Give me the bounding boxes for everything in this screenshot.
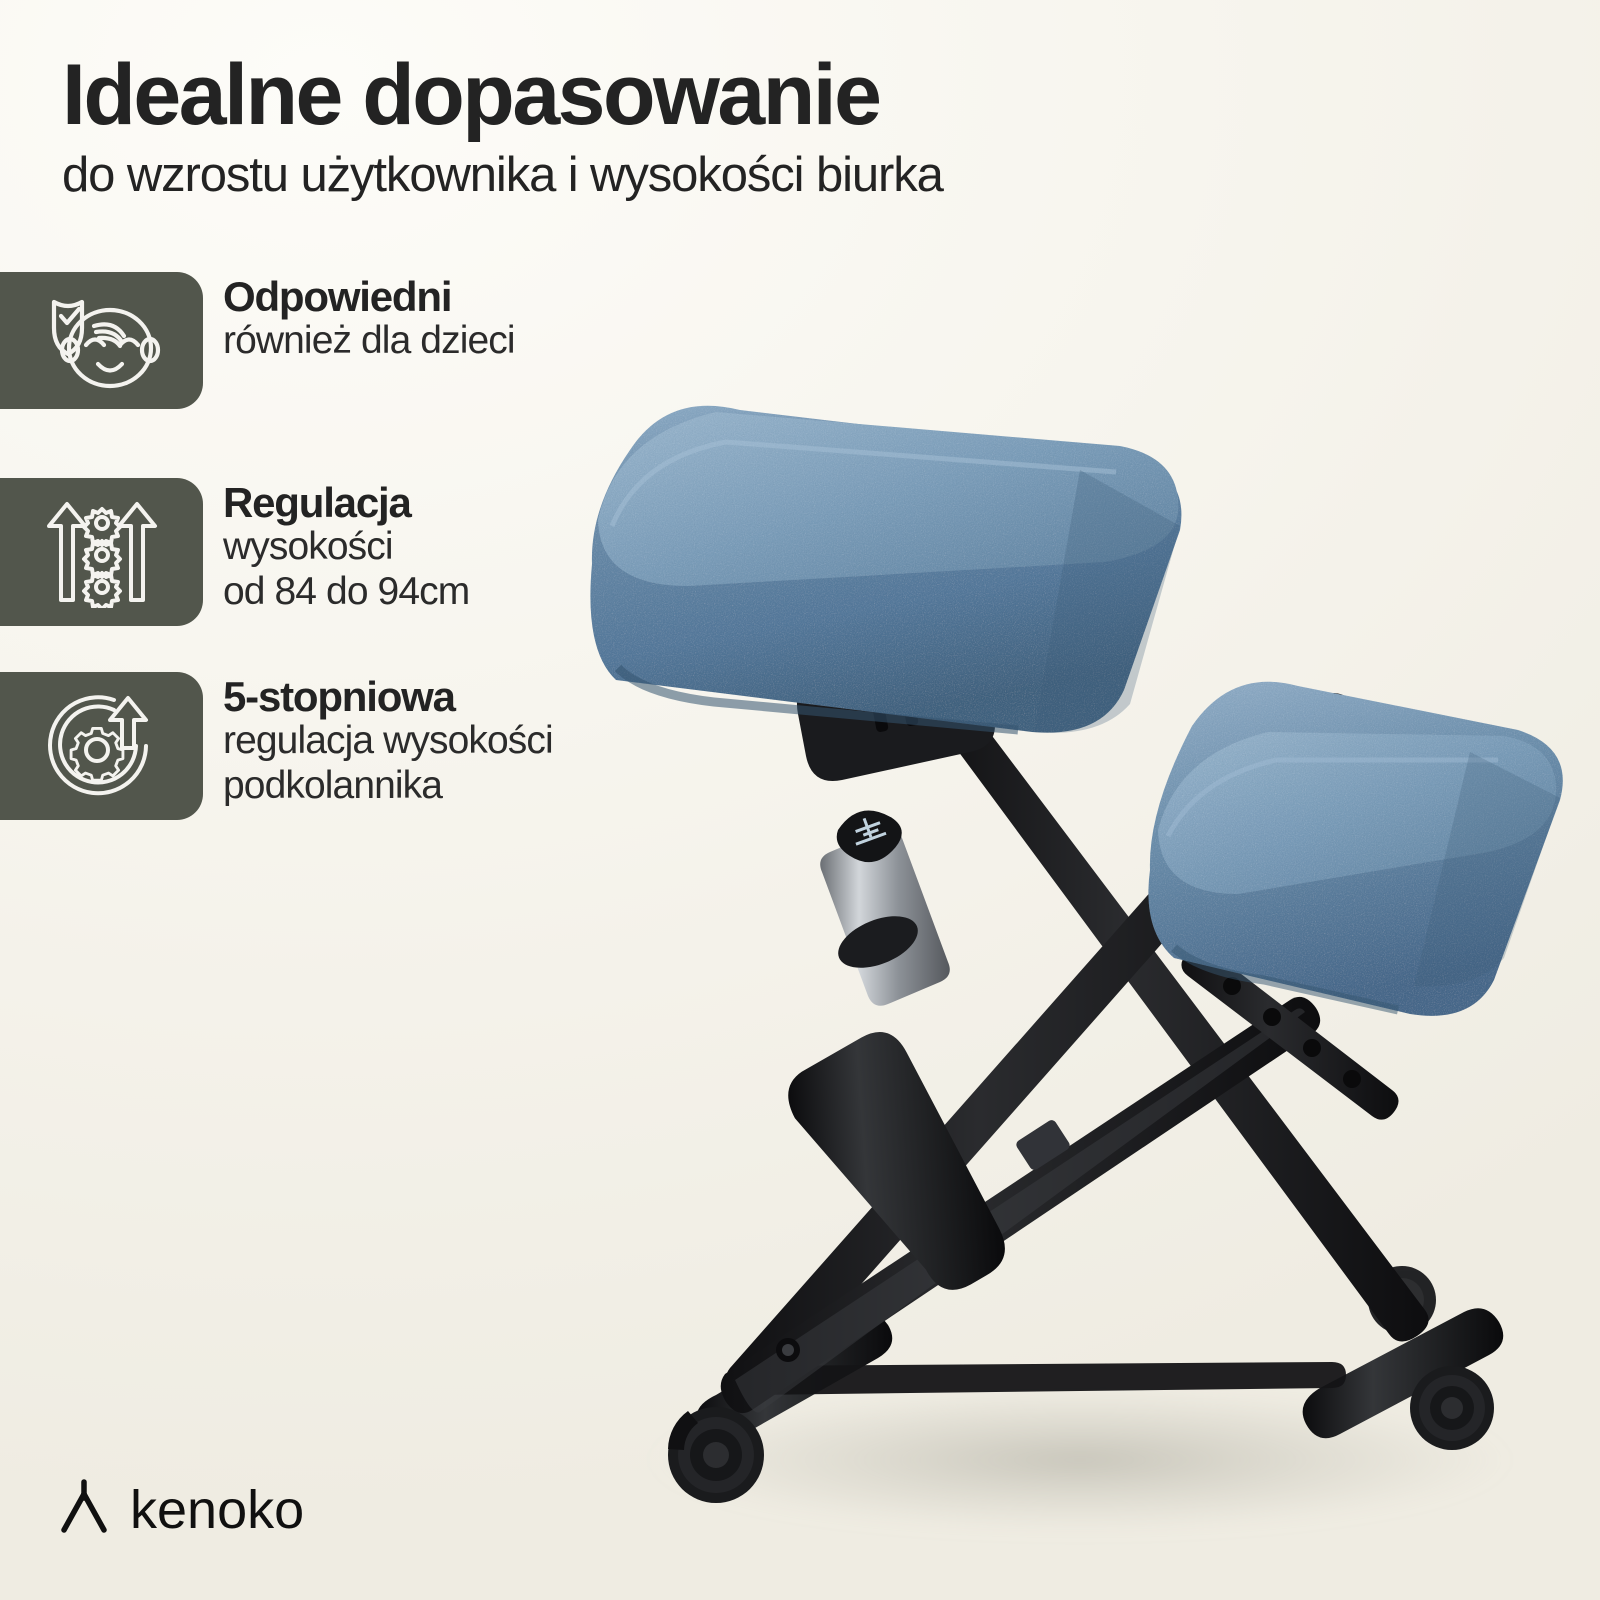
feature-text: Regulacja wysokości od 84 do 94cm [223,478,469,614]
page-title: Idealne dopasowanie [62,52,1362,140]
headline-block: Idealne dopasowanie do wzrostu użytkowni… [62,52,1362,201]
feature-subline: regulacja wysokości [223,719,553,763]
feature-heading: Odpowiedni [223,274,515,319]
feature-icon-badge [0,478,203,626]
product-image [520,350,1600,1550]
feature-subline: wysokości [223,525,469,569]
gas-lift-cylinder [784,800,1007,1300]
feature-icon-badge [0,272,203,409]
height-adjust-arrows-gears-icon [37,496,167,608]
feature-text: 5-stopniowa regulacja wysokości podkolan… [223,672,553,808]
brand-wordmark: kenoko [130,1483,304,1537]
feature-subline: również dla dzieci [223,319,515,363]
feature-item-height-adjust: Regulacja wysokości od 84 do 94cm [0,478,469,626]
brand-logo: kenoko [58,1478,304,1541]
feature-item-kneepad-adjust: 5-stopniowa regulacja wysokości podkolan… [0,672,553,820]
feature-heading: 5-stopniowa [223,674,553,719]
page-subtitle: do wzrostu użytkownika i wysokości biurk… [62,150,1362,201]
feature-item-child-safe: Odpowiedni również dla dzieci [0,272,515,409]
feature-text: Odpowiedni również dla dzieci [223,272,515,364]
person-glyph-icon [58,1478,110,1541]
feature-subline: od 84 do 94cm [223,570,469,614]
child-shield-icon [32,288,172,393]
knee-pad [1148,682,1562,1016]
poster-canvas: Idealne dopasowanie do wzrostu użytkowni… [0,0,1600,1600]
feature-heading: Regulacja [223,480,469,525]
gear-rotate-arrow-icon [36,688,168,804]
seat-cushion [590,406,1181,733]
feature-subline: podkolannika [223,764,553,808]
feature-icon-badge [0,672,203,820]
